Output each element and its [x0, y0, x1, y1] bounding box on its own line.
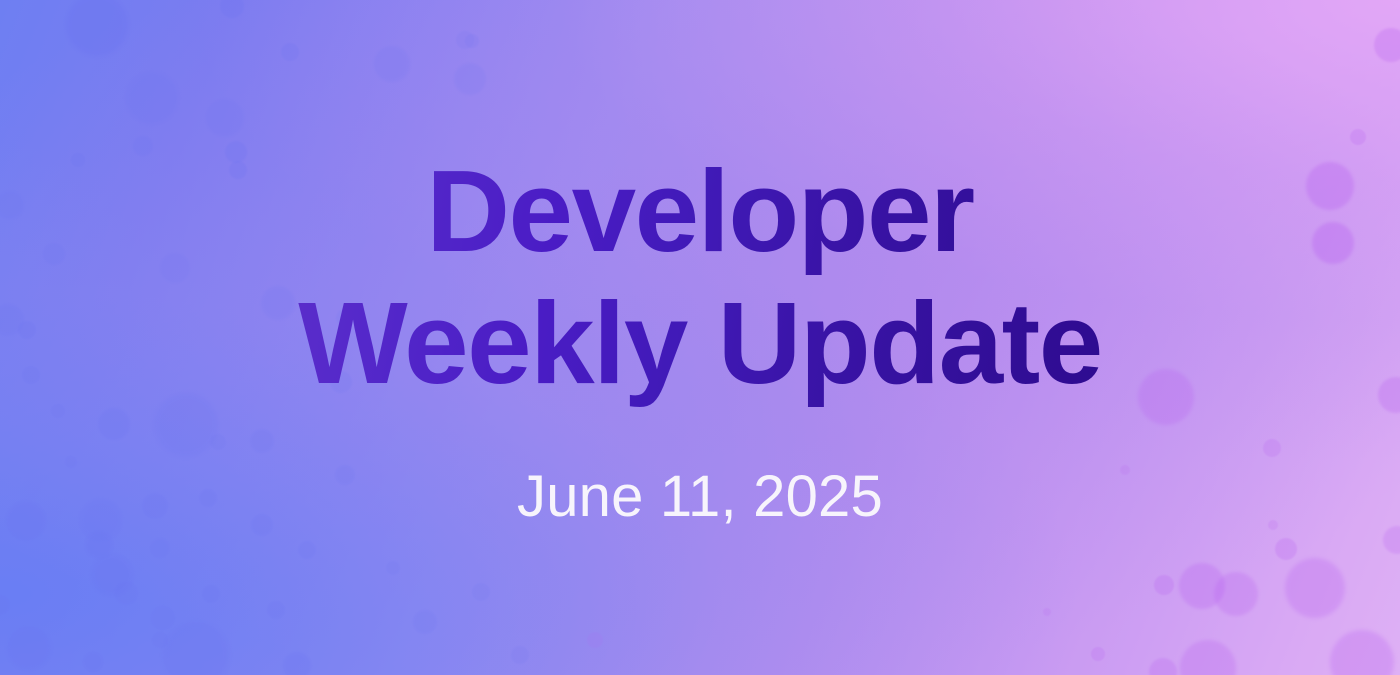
banner-content: Developer Weekly Update June 11, 2025 — [0, 0, 1400, 675]
developer-weekly-update-banner: Developer Weekly Update June 11, 2025 — [0, 0, 1400, 675]
page-title: Developer Weekly Update — [298, 145, 1102, 409]
banner-date: June 11, 2025 — [517, 463, 883, 530]
page-title-line-2: Weekly Update — [298, 277, 1102, 409]
page-title-line-1: Developer — [298, 145, 1102, 277]
